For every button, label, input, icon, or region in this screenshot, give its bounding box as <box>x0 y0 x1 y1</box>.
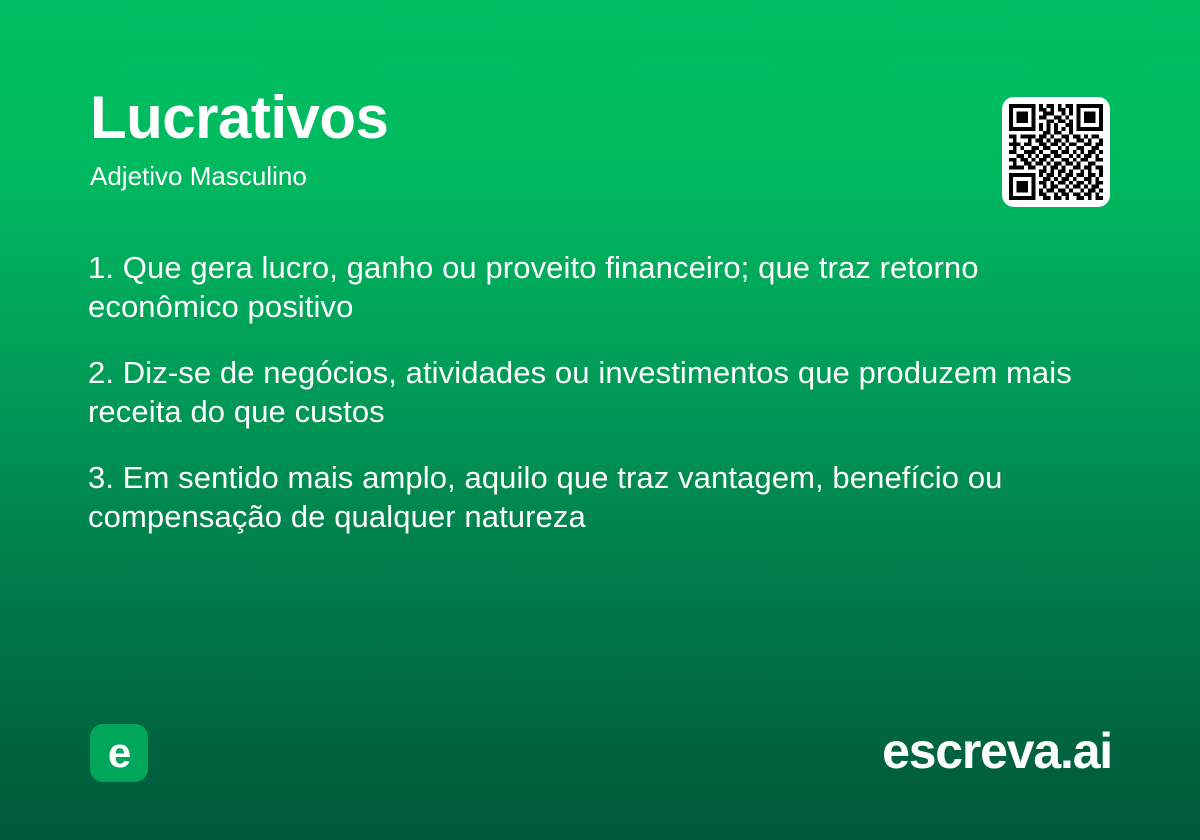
brand-logo-letter: e <box>90 724 148 782</box>
word-title: Lucrativos <box>90 88 388 148</box>
dictionary-card: Lucrativos Adjetivo Masculino 1. Que ger… <box>0 0 1200 840</box>
definition-item: 1. Que gera lucro, ganho ou proveito fin… <box>88 248 1108 326</box>
card-header: Lucrativos Adjetivo Masculino <box>90 88 388 191</box>
qr-code-icon[interactable] <box>1009 104 1103 200</box>
brand-logo[interactable]: e <box>90 724 148 782</box>
definition-list: 1. Que gera lucro, ganho ou proveito fin… <box>88 248 1108 536</box>
qr-code-card[interactable] <box>1002 97 1110 207</box>
definition-item: 3. Em sentido mais amplo, aquilo que tra… <box>88 458 1108 536</box>
brand-wordmark: escreva.ai <box>882 722 1112 780</box>
word-class-label: Adjetivo Masculino <box>90 162 388 191</box>
definition-item: 2. Diz-se de negócios, atividades ou inv… <box>88 353 1108 431</box>
